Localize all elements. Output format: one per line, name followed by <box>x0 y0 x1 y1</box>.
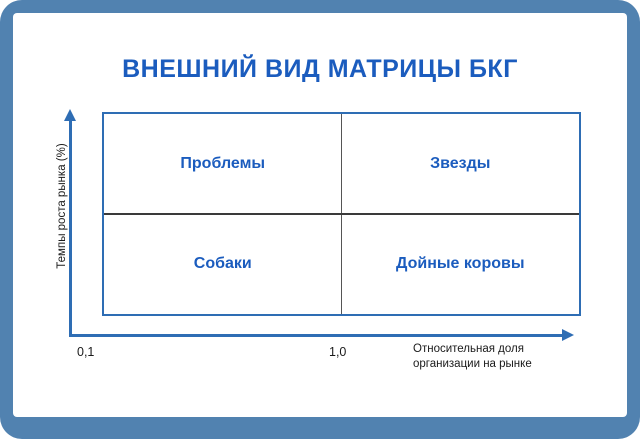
x-tick-label-0: 0,1 <box>77 345 94 359</box>
quadrant-stars[interactable]: Звезды <box>342 114 580 214</box>
y-axis-label: Темпы роста рынка (%) <box>56 111 68 301</box>
x-axis-label-line-1: Относительная доля <box>413 342 603 357</box>
x-axis-label-line-2: организации на рынке <box>413 357 603 372</box>
x-axis-line <box>69 334 564 337</box>
x-axis-label: Относительная доля организации на рынке <box>413 342 603 372</box>
bcg-matrix: Проблемы Звезды Собаки Дойные коровы <box>102 112 581 316</box>
y-axis-line <box>69 120 72 337</box>
quadrant-label: Дойные коровы <box>396 255 525 273</box>
quadrant-label: Собаки <box>194 255 252 273</box>
x-tick-label-1: 1,0 <box>329 345 346 359</box>
arrow-right-icon <box>562 329 574 341</box>
quadrant-dogs[interactable]: Собаки <box>104 214 342 314</box>
content-card: ВНЕШНИЙ ВИД МАТРИЦЫ БКГ Темпы роста рынк… <box>13 13 627 417</box>
quadrant-label: Звезды <box>430 155 490 173</box>
quadrant-question-marks[interactable]: Проблемы <box>104 114 342 214</box>
page-title: ВНЕШНИЙ ВИД МАТРИЦЫ БКГ <box>13 55 627 84</box>
quadrant-label: Проблемы <box>180 155 265 173</box>
quadrant-cash-cows[interactable]: Дойные коровы <box>342 214 580 314</box>
screenshot-root: ВНЕШНИЙ ВИД МАТРИЦЫ БКГ Темпы роста рынк… <box>0 0 640 439</box>
